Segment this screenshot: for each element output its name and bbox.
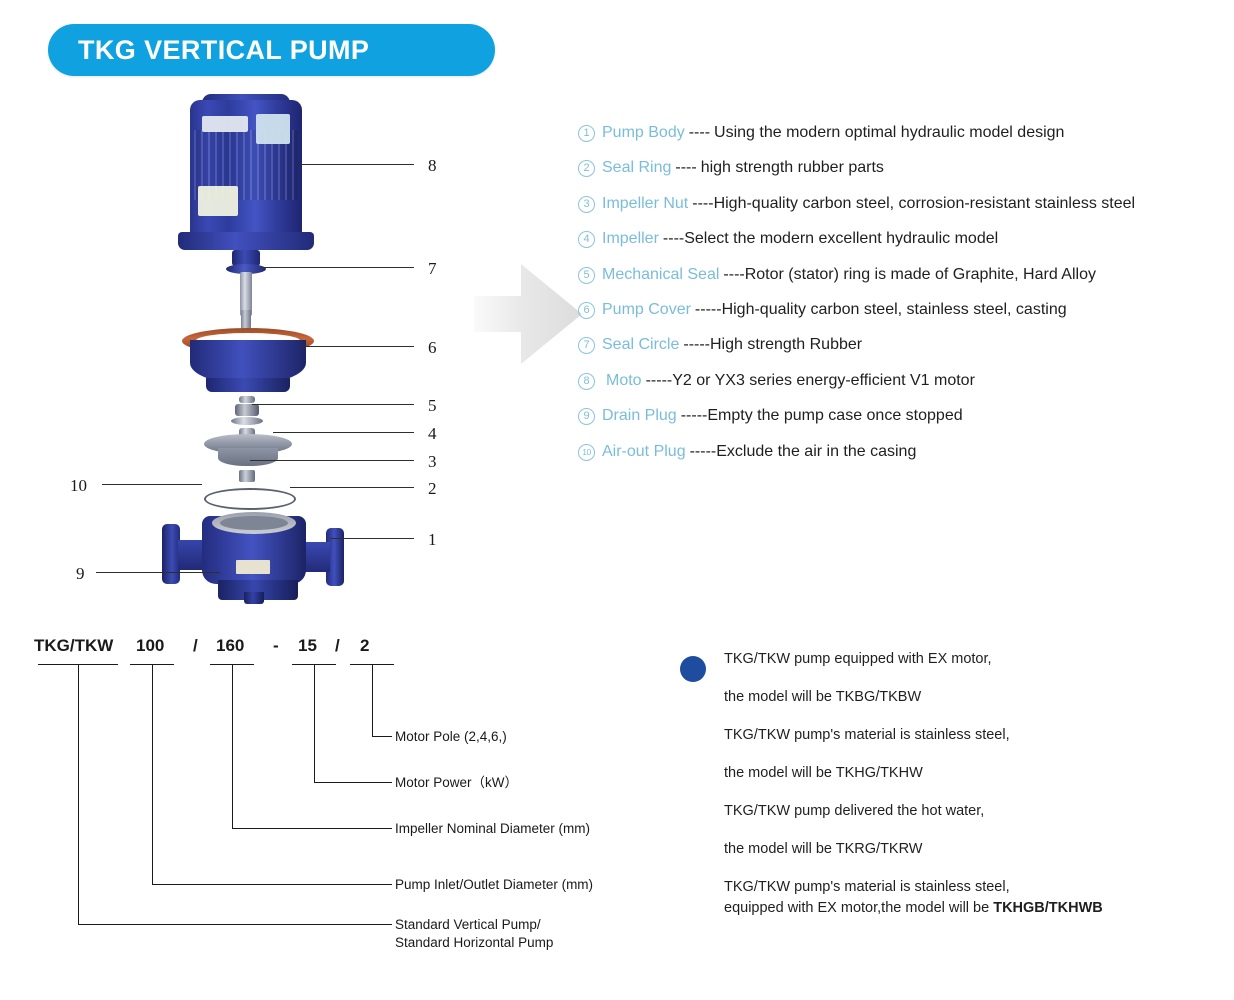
legend-part-desc-6: High-quality carbon steel, stainless ste…	[722, 301, 1067, 319]
note-line-6: the model will be TKRG/TKRW	[724, 842, 1225, 857]
legend-item-4: 4 Impeller ---- Select the modern excell…	[578, 230, 1228, 249]
model-label-motor-pole: Motor Pole (2,4,6,)	[395, 728, 507, 746]
legend-part-name-3: Impeller Nut	[602, 195, 688, 213]
pump-body-bore	[220, 516, 288, 530]
legend-separator-7: -----	[683, 336, 710, 354]
legend-part-desc-1: Using the modern optimal hydraulic model…	[714, 124, 1064, 142]
callout-line-8	[296, 164, 414, 165]
legend-separator-5: ----	[723, 266, 744, 284]
legend-item-7: 7 Seal Circle ----- High strength Rubber	[578, 336, 1228, 355]
callout-number-3: 3	[428, 453, 437, 470]
motor-mounting-flange	[178, 232, 314, 250]
model-segment-inlet: 100	[136, 636, 164, 656]
leader-vertical-inlet	[152, 664, 153, 884]
callout-number-1: 1	[428, 531, 437, 548]
legend-separator-9: -----	[681, 407, 708, 425]
legend-number-2: 2	[578, 160, 595, 177]
right-arrow-icon	[474, 258, 584, 370]
model-separator-slash-1: /	[193, 636, 198, 656]
callout-line-9	[96, 572, 220, 573]
legend-part-desc-5: Rotor (stator) ring is made of Graphite,…	[745, 266, 1096, 284]
model-segment-series: TKG/TKW	[34, 636, 113, 656]
mechanical-seal-lower	[231, 417, 263, 425]
callout-number-6: 6	[428, 339, 437, 356]
legend-separator-3: ----	[692, 195, 713, 213]
model-variant-notes: TKG/TKW pump equipped with EX motor, the…	[680, 652, 1225, 939]
model-label-pump-type-line2: Standard Horizontal Pump	[395, 934, 553, 952]
legend-part-name-8: Moto	[606, 372, 642, 390]
pump-spec-page: TKG VERTICAL PUMP	[0, 0, 1234, 1000]
legend-item-3: 3 Impeller Nut ---- High-quality carbon …	[578, 195, 1228, 214]
legend-part-desc-9: Empty the pump case once stopped	[707, 407, 962, 425]
bullet-point-icon	[680, 656, 706, 682]
model-label-inlet-diameter: Pump Inlet/Outlet Diameter (mm)	[395, 876, 593, 894]
legend-item-2: 2 Seal Ring ---- high strength rubber pa…	[578, 159, 1228, 178]
legend-part-desc-10: Exclude the air in the casing	[716, 443, 916, 461]
legend-separator-10: -----	[690, 443, 717, 461]
legend-item-1: 1 Pump Body ---- Using the modern optima…	[578, 124, 1228, 143]
legend-part-name-2: Seal Ring	[602, 159, 671, 177]
legend-item-8: 8 Moto ----- Y2 or YX3 series energy-eff…	[578, 372, 1228, 391]
callout-line-2	[290, 487, 414, 488]
page-title: TKG VERTICAL PUMP	[48, 35, 369, 66]
legend-part-name-10: Air-out Plug	[602, 443, 686, 461]
callout-line-3	[250, 460, 414, 461]
model-segment-pole: 2	[360, 636, 369, 656]
leader-horizontal-impeller	[232, 828, 392, 829]
model-code-breakdown: TKG/TKW / 100 160 - 15 / 2 Motor Pole (2…	[30, 636, 610, 956]
model-label-impeller-diameter: Impeller Nominal Diameter (mm)	[395, 820, 590, 838]
callout-number-2: 2	[428, 480, 437, 497]
legend-part-desc-4: Select the modern excellent hydraulic mo…	[684, 230, 998, 248]
exploded-pump-illustration	[140, 92, 390, 592]
mechanical-seal-mid	[235, 404, 259, 416]
callout-line-5	[252, 404, 414, 405]
legend-item-10: 10 Air-out Plug ----- Exclude the air in…	[578, 443, 1228, 462]
legend-part-name-9: Drain Plug	[602, 407, 677, 425]
legend-part-name-5: Mechanical Seal	[602, 266, 719, 284]
callout-line-7	[262, 267, 414, 268]
legend-number-4: 4	[578, 231, 595, 248]
note-line-4: the model will be TKHG/TKHW	[724, 766, 1225, 781]
callout-line-1	[330, 538, 414, 539]
note-line-group: TKG/TKW pump equipped with EX motor, the…	[724, 652, 1225, 915]
note-line-5: TKG/TKW pump delivered the hot water,	[724, 804, 1225, 819]
callout-number-8: 8	[428, 157, 437, 174]
legend-part-desc-7: High strength Rubber	[710, 336, 862, 354]
note-line-8-text: equipped with EX motor,the model will be	[724, 900, 993, 916]
note-line-8-model: TKHGB/TKHWB	[993, 900, 1103, 916]
legend-number-7: 7	[578, 337, 595, 354]
callout-number-9: 9	[76, 565, 85, 582]
model-separator-slash-2: /	[335, 636, 340, 656]
legend-part-name-4: Impeller	[602, 230, 659, 248]
callout-line-10	[102, 484, 202, 485]
leader-horizontal-pole	[372, 736, 392, 737]
mechanical-seal-upper	[239, 396, 255, 403]
legend-separator-1: ----	[689, 124, 710, 142]
motor-terminal-box	[256, 114, 290, 144]
pump-body-nameplate	[236, 560, 270, 574]
model-label-motor-power: Motor Power（kW）	[395, 774, 518, 792]
leader-vertical-impeller	[232, 664, 233, 828]
leader-horizontal-power	[314, 782, 392, 783]
callout-number-7: 7	[428, 260, 437, 277]
legend-number-8: 8	[578, 373, 595, 390]
legend-separator-6: -----	[695, 301, 722, 319]
leader-horizontal-series	[78, 924, 392, 925]
legend-part-name-7: Seal Circle	[602, 336, 679, 354]
callout-number-10: 10	[70, 477, 87, 494]
legend-part-desc-3: High-quality carbon steel, corrosion-res…	[714, 195, 1136, 213]
callout-line-4	[273, 432, 414, 433]
motor-nameplate	[198, 186, 238, 216]
seal-ring-part	[204, 488, 296, 510]
legend-part-desc-2: high strength rubber parts	[701, 159, 884, 177]
note-line-2: the model will be TKBG/TKBW	[724, 690, 1225, 705]
legend-part-desc-8: Y2 or YX3 series energy-efficient V1 mot…	[672, 372, 975, 390]
legend-part-name-6: Pump Cover	[602, 301, 691, 319]
legend-item-5: 5 Mechanical Seal ---- Rotor (stator) ri…	[578, 266, 1228, 285]
callout-number-5: 5	[428, 397, 437, 414]
callout-number-4: 4	[428, 425, 437, 442]
legend-number-5: 5	[578, 267, 595, 284]
leader-vertical-pole	[372, 664, 373, 736]
motor-label-plate	[202, 116, 248, 132]
note-line-3: TKG/TKW pump's material is stainless ste…	[724, 728, 1225, 743]
shaft-tip	[241, 310, 251, 330]
legend-number-10: 10	[578, 444, 595, 461]
legend-separator-2: ----	[675, 159, 696, 177]
impeller-nut-part	[239, 470, 255, 482]
note-line-7: TKG/TKW pump's material is stainless ste…	[724, 880, 1225, 895]
leader-vertical-power	[314, 664, 315, 782]
note-line-1: TKG/TKW pump equipped with EX motor,	[724, 652, 1225, 667]
legend-number-1: 1	[578, 125, 595, 142]
legend-item-9: 9 Drain Plug ----- Empty the pump case o…	[578, 407, 1228, 426]
legend-number-6: 6	[578, 302, 595, 319]
legend-separator-4: ----	[663, 230, 684, 248]
legend-part-name-1: Pump Body	[602, 124, 685, 142]
leader-horizontal-inlet	[152, 884, 392, 885]
drain-plug-part	[244, 592, 264, 604]
note-line-8: equipped with EX motor,the model will be…	[724, 901, 1225, 916]
leader-vertical-series	[78, 664, 79, 924]
outlet-neck	[302, 542, 330, 572]
model-separator-dash: -	[273, 636, 279, 656]
legend-separator-8: -----	[646, 372, 673, 390]
parts-legend-list: 1 Pump Body ---- Using the modern optima…	[578, 124, 1228, 478]
callout-line-6	[300, 346, 414, 347]
title-banner: TKG VERTICAL PUMP	[48, 24, 495, 76]
impeller-skirt	[218, 448, 278, 466]
legend-number-9: 9	[578, 408, 595, 425]
model-segment-impeller: 160	[216, 636, 244, 656]
model-segment-power: 15	[298, 636, 317, 656]
model-label-pump-type-line1: Standard Vertical Pump/	[395, 916, 541, 934]
legend-item-6: 6 Pump Cover ----- High-quality carbon s…	[578, 301, 1228, 320]
legend-number-3: 3	[578, 196, 595, 213]
pump-cover-foot	[206, 378, 290, 392]
